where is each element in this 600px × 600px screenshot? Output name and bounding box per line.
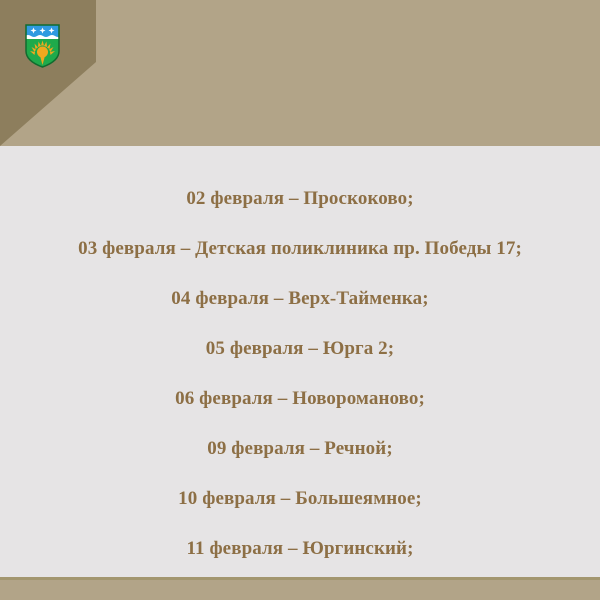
list-item: 05 февраля – Юрга 2; [0, 324, 600, 374]
footer-divider [0, 577, 600, 580]
header-angled-accent [0, 0, 96, 146]
footer-bar [0, 577, 600, 600]
header-banner [0, 0, 600, 146]
list-item: 02 февраля – Проскоково; [0, 174, 600, 224]
list-item: 10 февраля – Большеямное; [0, 474, 600, 524]
slide-root: 02 февраля – Проскоково; 03 февраля – Де… [0, 0, 600, 600]
schedule-list: 02 февраля – Проскоково; 03 февраля – Де… [0, 174, 600, 574]
list-item: 11 февраля – Юргинский; [0, 524, 600, 574]
schedule-panel: 02 февраля – Проскоково; 03 февраля – Де… [0, 146, 600, 577]
list-item: 04 февраля – Верх-Тайменка; [0, 274, 600, 324]
list-item: 06 февраля – Новороманово; [0, 374, 600, 424]
list-item: 09 февраля – Речной; [0, 424, 600, 474]
list-item: 03 февраля – Детская поликлиника пр. Поб… [0, 224, 600, 274]
coat-of-arms-shield-icon [25, 24, 60, 68]
